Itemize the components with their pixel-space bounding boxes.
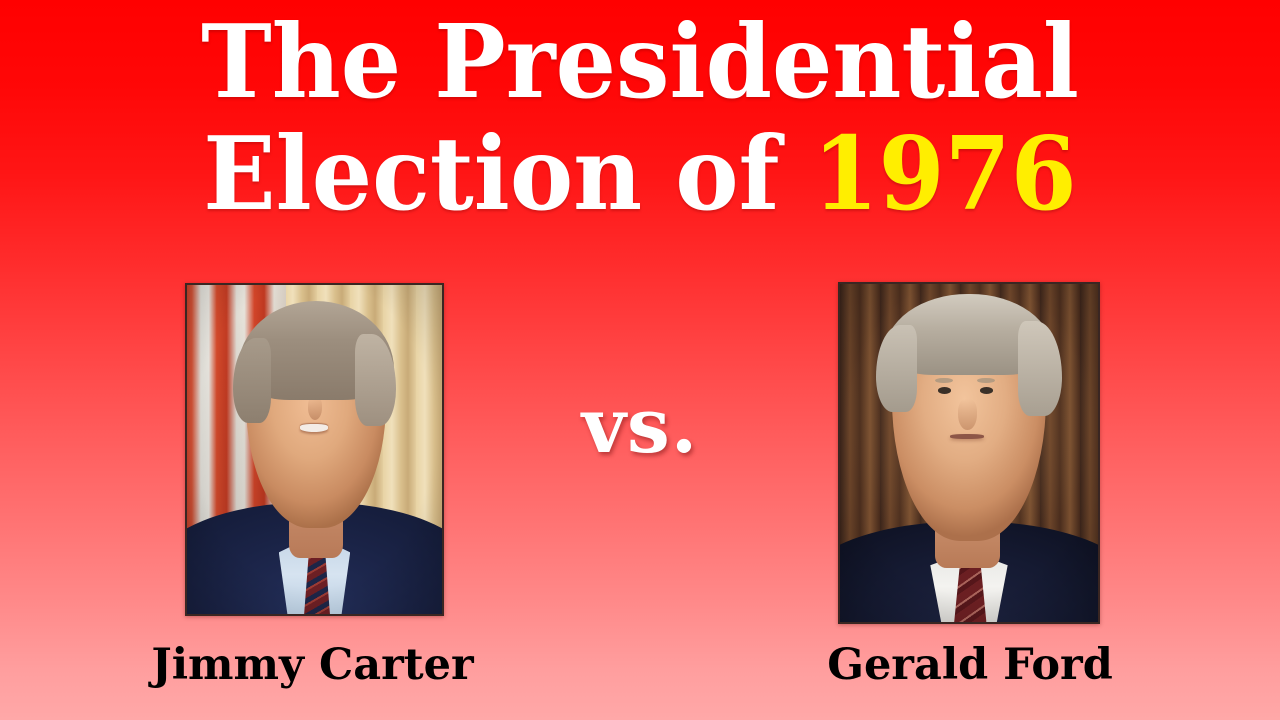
caption-jimmy-carter: Jimmy Carter	[0, 641, 625, 689]
portrait-gerald-ford	[838, 282, 1100, 624]
title-year: 1976	[812, 114, 1076, 233]
slide-canvas: The Presidential Election of 1976	[0, 0, 1280, 720]
title-line-two-prefix: Election of	[203, 114, 812, 233]
left-eye-shape	[938, 387, 951, 394]
title-line-one: The Presidential	[38, 8, 1241, 116]
right-eye-shape	[980, 387, 993, 394]
nose-shape	[958, 399, 977, 430]
right-eyebrow-shape	[977, 378, 996, 384]
mouth-shape	[950, 434, 984, 438]
title-line-two: Election of 1976	[38, 120, 1241, 228]
portrait-gerald-ford-image	[840, 284, 1098, 622]
slide-title: The Presidential Election of 1976	[0, 8, 1280, 228]
caption-gerald-ford: Gerald Ford	[660, 641, 1280, 689]
left-eyebrow-shape	[935, 378, 954, 384]
